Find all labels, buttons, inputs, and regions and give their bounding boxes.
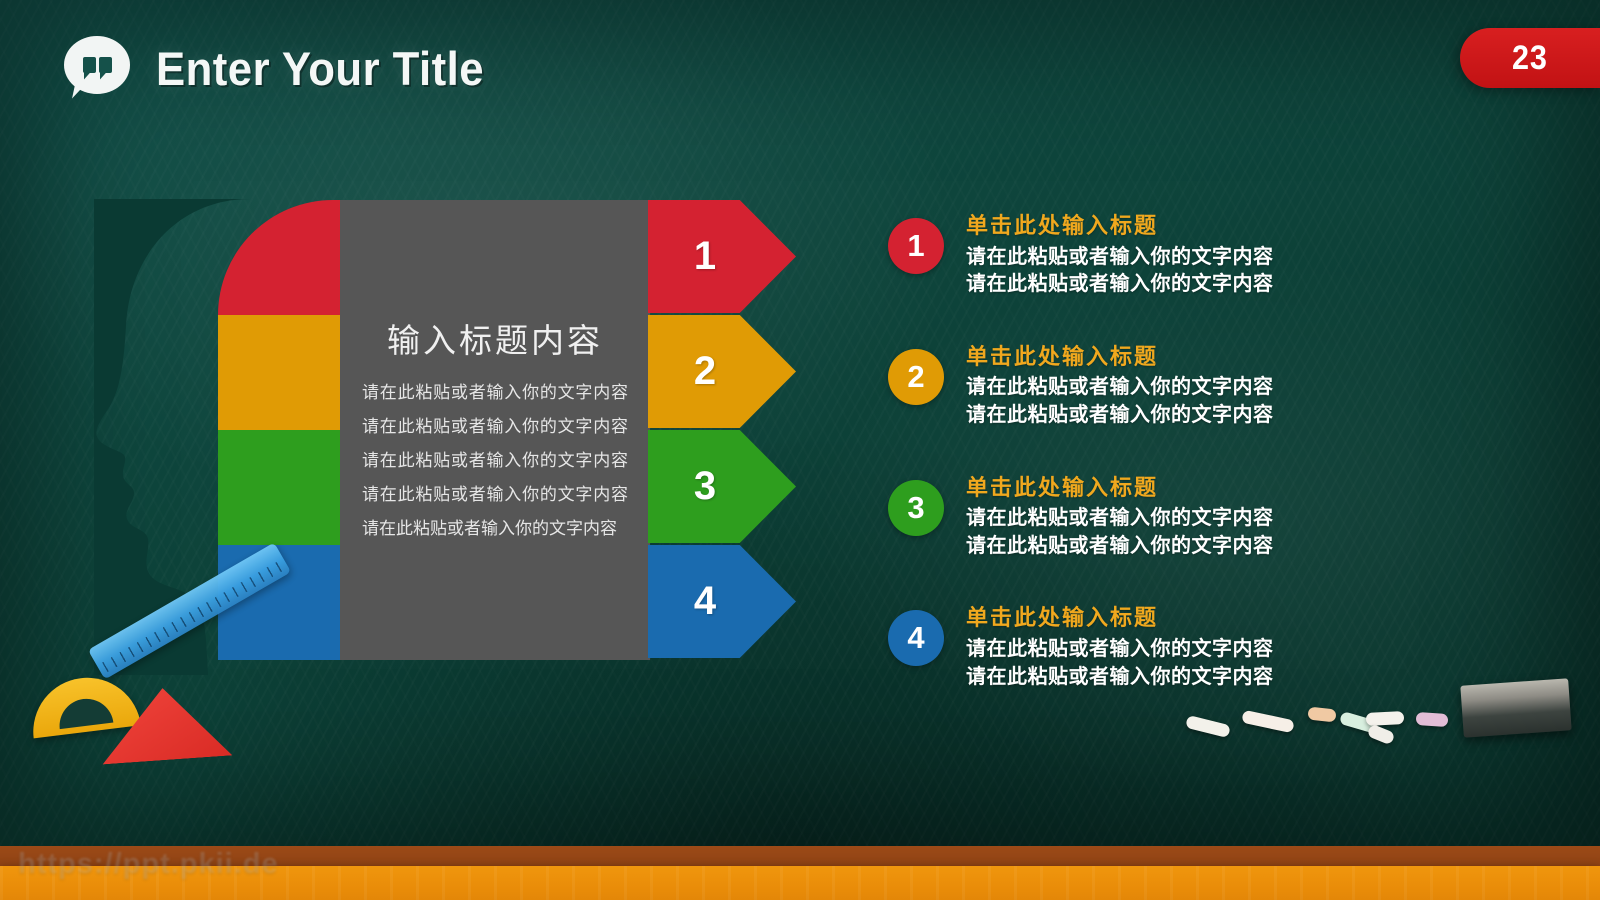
chevron-2[interactable]: 2 — [648, 315, 796, 428]
center-content-panel: 输入标题内容 请在此粘贴或者输入你的文字内容请在此粘贴或者输入你的文字内容请在此… — [340, 200, 650, 660]
list-item-line-2: 请在此粘贴或者输入你的文字内容 — [966, 533, 1274, 561]
list-item-line-1: 请在此粘贴或者输入你的文字内容 — [966, 636, 1274, 664]
chevron-4[interactable]: 4 — [648, 545, 796, 658]
slide-header: Enter Your Title — [64, 36, 509, 100]
list-item-line-1: 请在此粘贴或者输入你的文字内容 — [966, 505, 1274, 533]
chalk-stick-icon — [1366, 711, 1405, 726]
center-panel-title: 输入标题内容 — [387, 314, 603, 362]
list-item-heading: 单击此处输入标题 — [966, 343, 1274, 372]
chevron-3-number: 3 — [694, 464, 716, 509]
bullet-number-4: 4 — [888, 610, 944, 666]
slide-root: Enter Your Title 23 $ — [0, 0, 1600, 900]
list-item-line-1: 请在此粘贴或者输入你的文字内容 — [966, 374, 1274, 402]
chevron-1[interactable]: 1 — [648, 200, 796, 313]
blackboard-eraser-icon — [1460, 678, 1571, 737]
chalk-stick-icon — [1185, 715, 1231, 738]
bullet-list: 1 单击此处输入标题 请在此粘贴或者输入你的文字内容 请在此粘贴或者输入你的文字… — [888, 212, 1548, 735]
bullet-number-3: 3 — [888, 480, 944, 536]
list-item-heading: 单击此处输入标题 — [966, 212, 1274, 241]
list-item-heading: 单击此处输入标题 — [966, 604, 1274, 633]
chevron-column: 1 2 3 4 — [648, 200, 808, 660]
list-item-text: 单击此处输入标题 请在此粘贴或者输入你的文字内容 请在此粘贴或者输入你的文字内容 — [966, 212, 1274, 299]
watermark-text: https://ppt.pkii.de — [18, 848, 438, 881]
chevron-2-number: 2 — [694, 349, 716, 394]
list-item-text: 单击此处输入标题 请在此粘贴或者输入你的文字内容 请在此粘贴或者输入你的文字内容 — [966, 604, 1274, 691]
chalk-stick-icon — [1241, 710, 1295, 734]
page-number-badge: 23 — [1460, 28, 1600, 88]
page-title: Enter Your Title — [156, 41, 484, 96]
yellow-protractor-icon — [27, 672, 141, 739]
chalk-stick-icon — [1367, 724, 1396, 746]
list-item[interactable]: 1 单击此处输入标题 请在此粘贴或者输入你的文字内容 请在此粘贴或者输入你的文字… — [888, 212, 1548, 299]
chalk-stick-icon — [1307, 707, 1336, 723]
bullet-number-2: 2 — [888, 349, 944, 405]
chalk-and-eraser-decor — [1180, 690, 1500, 760]
list-item-heading: 单击此处输入标题 — [966, 474, 1274, 503]
list-item-line-2: 请在此粘贴或者输入你的文字内容 — [966, 271, 1274, 299]
chevron-3[interactable]: 3 — [648, 430, 796, 543]
center-panel-body: 请在此粘贴或者输入你的文字内容请在此粘贴或者输入你的文字内容请在此粘贴或者输入你… — [362, 376, 628, 546]
list-item[interactable]: 4 单击此处输入标题 请在此粘贴或者输入你的文字内容 请在此粘贴或者输入你的文字… — [888, 604, 1548, 691]
list-item-text: 单击此处输入标题 请在此粘贴或者输入你的文字内容 请在此粘贴或者输入你的文字内容 — [966, 474, 1274, 561]
bullet-number-1: 1 — [888, 218, 944, 274]
list-item[interactable]: 2 单击此处输入标题 请在此粘贴或者输入你的文字内容 请在此粘贴或者输入你的文字… — [888, 343, 1548, 430]
list-item-text: 单击此处输入标题 请在此粘贴或者输入你的文字内容 请在此粘贴或者输入你的文字内容 — [966, 343, 1274, 430]
list-item-line-2: 请在此粘贴或者输入你的文字内容 — [966, 664, 1274, 692]
list-item[interactable]: 3 单击此处输入标题 请在此粘贴或者输入你的文字内容 请在此粘贴或者输入你的文字… — [888, 474, 1548, 561]
list-item-line-1: 请在此粘贴或者输入你的文字内容 — [966, 244, 1274, 272]
page-number-value: 23 — [1512, 39, 1548, 78]
chalk-stick-icon — [1416, 712, 1449, 727]
chevron-4-number: 4 — [694, 579, 716, 624]
quote-marks — [64, 36, 130, 94]
chevron-1-number: 1 — [694, 234, 716, 279]
speech-bubble-quote-icon — [64, 36, 136, 100]
list-item-line-2: 请在此粘贴或者输入你的文字内容 — [966, 402, 1274, 430]
stationery-decor — [20, 580, 300, 780]
